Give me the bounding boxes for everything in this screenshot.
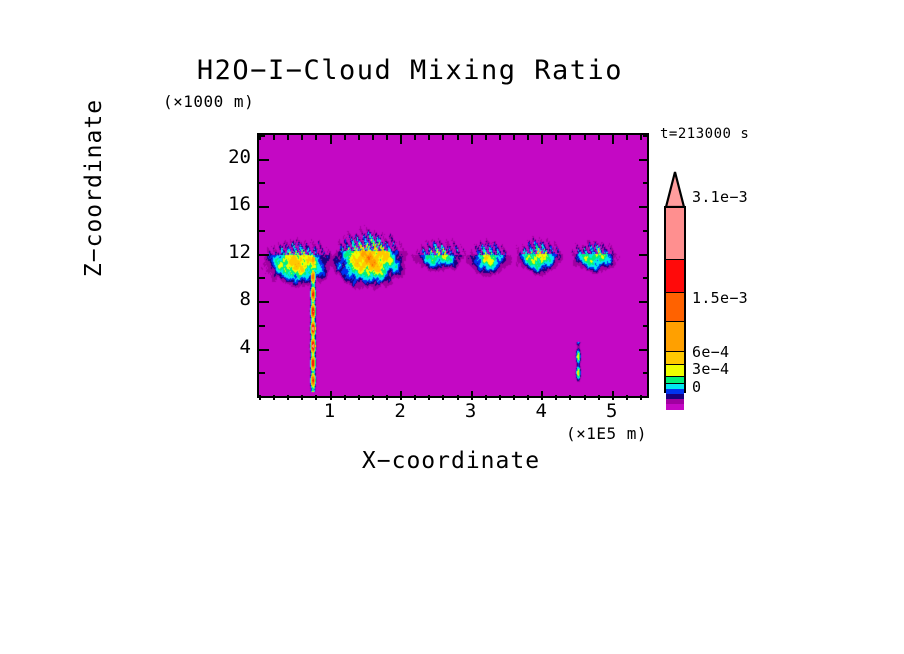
y-tick-major (259, 182, 265, 184)
y-tick-right (643, 182, 649, 184)
y-tick-label-4: 4 (211, 338, 251, 357)
x-tick-top (301, 135, 303, 140)
x-axis-units-label: (×1E5 m) (566, 424, 647, 443)
colorbar-label-2: 6e−4 (692, 343, 729, 361)
x-tick-label-4: 4 (521, 400, 561, 422)
y-tick-right (639, 206, 649, 208)
y-tick-major (259, 301, 269, 303)
figure-title: H2O−I−Cloud Mixing Ratio (0, 55, 904, 86)
y-tick-right (643, 372, 649, 374)
y-axis-tick-labels: 20161284 (191, 133, 251, 394)
colorbar-tick-labels: 3.1e−31.5e−36e−43e−40 (692, 133, 812, 403)
y-tick-label-12: 12 (211, 243, 251, 262)
colorbar-band-3 (666, 322, 684, 352)
y-tick-right (639, 254, 649, 256)
x-tick-label-3: 3 (451, 400, 491, 422)
x-tick-top (569, 135, 571, 140)
x-tick-top (344, 135, 346, 140)
y-tick-right (643, 325, 649, 327)
y-tick-right (639, 301, 649, 303)
colorbar-arrow-cap (664, 171, 686, 208)
x-tick-top (471, 135, 473, 144)
x-tick-label-5: 5 (592, 400, 632, 422)
x-tick-top (457, 135, 459, 140)
y-tick-major (259, 230, 265, 232)
z-axis-units-label: (×1000 m) (163, 92, 254, 111)
y-tick-label-8: 8 (211, 290, 251, 309)
y-tick-right (639, 159, 649, 161)
y-tick-label-16: 16 (211, 195, 251, 214)
colorbar-band-1 (666, 260, 684, 293)
x-tick-top (287, 135, 289, 140)
axis-ticks (257, 133, 649, 398)
y-tick-major (259, 277, 265, 279)
y-axis-label: Z−coordinate (81, 38, 107, 338)
y-tick-major (259, 206, 269, 208)
x-tick-top (555, 135, 557, 140)
y-tick-major (259, 254, 269, 256)
y-tick-major (259, 159, 269, 161)
y-tick-right (643, 277, 649, 279)
y-tick-major (259, 372, 265, 374)
x-tick-label-1: 1 (310, 400, 350, 422)
x-axis-label: X−coordinate (257, 448, 645, 474)
y-tick-label-20: 20 (211, 148, 251, 167)
x-tick-top (598, 135, 600, 140)
x-tick-top (330, 135, 332, 144)
x-tick-top (513, 135, 515, 140)
colorbar-band-2 (666, 293, 684, 322)
y-tick-major (259, 135, 265, 137)
x-tick-top (315, 135, 317, 140)
y-tick-right (643, 135, 649, 137)
x-tick-top (372, 135, 374, 140)
x-tick-top (485, 135, 487, 140)
figure-canvas: H2O−I−Cloud Mixing Ratio (×1000 m) t=213… (0, 0, 904, 654)
x-tick-top (386, 135, 388, 140)
colorbar-band-11 (666, 404, 684, 410)
colorbar-label-1: 1.5e−3 (692, 289, 748, 307)
colorbar-band-0 (666, 208, 684, 260)
x-tick-top (499, 135, 501, 140)
y-tick-major (259, 349, 269, 351)
x-tick-top (527, 135, 529, 140)
x-tick-top (428, 135, 430, 140)
colorbar-label-0: 3.1e−3 (692, 188, 748, 206)
x-tick-top (273, 135, 275, 140)
x-tick-top (640, 135, 642, 140)
x-tick-label-2: 2 (380, 400, 420, 422)
x-tick-top (442, 135, 444, 140)
colorbar-label-4: 0 (692, 378, 701, 396)
x-tick-top (400, 135, 402, 144)
y-tick-right (639, 349, 649, 351)
colorbar (664, 171, 686, 393)
x-tick-top (358, 135, 360, 140)
y-tick-right (643, 230, 649, 232)
x-tick-top (541, 135, 543, 144)
y-tick-major (259, 325, 265, 327)
figure-title-text: H2O−I−Cloud Mixing Ratio (197, 55, 623, 86)
colorbar-bands (664, 206, 686, 393)
colorbar-label-3: 3e−4 (692, 360, 729, 378)
x-tick-top (414, 135, 416, 140)
x-tick-top (584, 135, 586, 140)
x-tick-top (626, 135, 628, 140)
x-tick-top (612, 135, 614, 144)
